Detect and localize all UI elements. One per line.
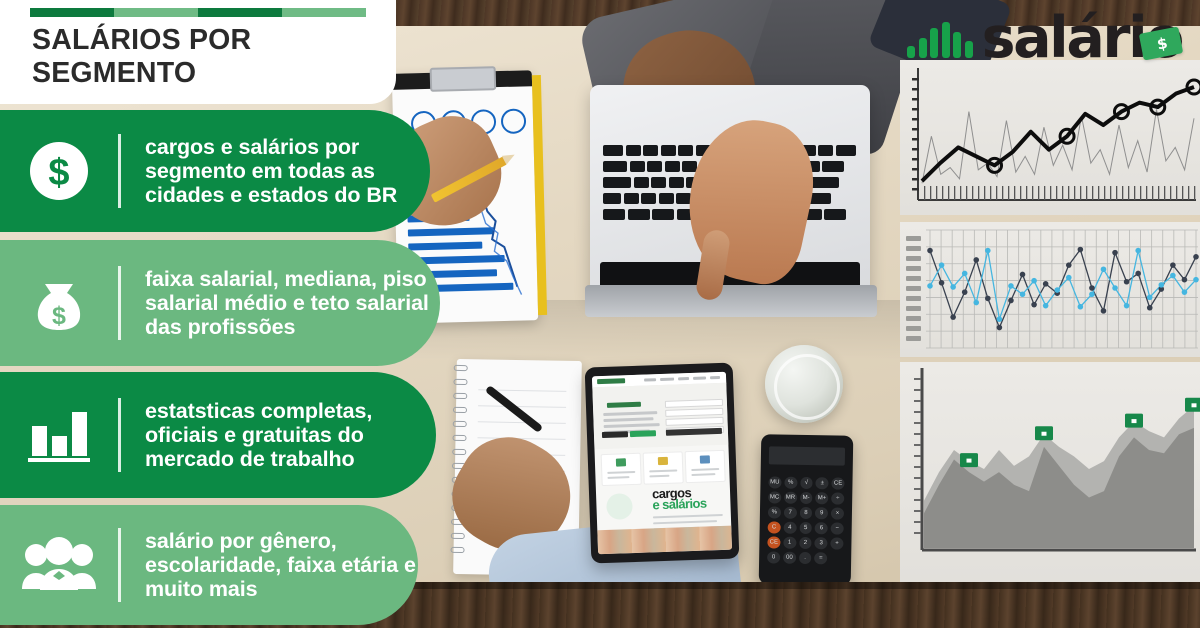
feature-text: cargos e salários por segmento em todas …: [121, 135, 430, 207]
feature-row-2[interactable]: $faixa salarial, mediana, piso salarial …: [0, 240, 440, 366]
axis-tick: [1134, 186, 1135, 200]
axis-tick: [996, 186, 997, 200]
calculator-key: 1: [783, 537, 796, 549]
data-point-marker: [997, 325, 1003, 331]
data-point-marker: [1112, 285, 1118, 291]
calculator-key: .: [799, 552, 812, 564]
axis-tick: [1128, 186, 1129, 200]
axis-tick: [914, 433, 921, 435]
axis-tick: [924, 186, 925, 200]
axis-tick: [1020, 186, 1021, 200]
data-point-marker: [1031, 302, 1037, 308]
axis-tick: [914, 477, 921, 479]
axis-tick: [1194, 186, 1195, 200]
data-point-marker: [927, 248, 933, 254]
site-headline: cargose salários: [652, 486, 707, 510]
infographic-banner: cargose salários MU%√±CEMCMRM-M+÷%789×C4…: [0, 0, 1200, 628]
axis-tick: [1074, 186, 1075, 200]
calculator-keypad: MU%√±CEMCMRM-M+÷%789×C456−CE123+000.=: [767, 476, 845, 564]
axis-tick: [972, 186, 973, 200]
axis-tick: [914, 466, 921, 468]
equalizer-bar-3: [930, 28, 938, 58]
axis-tick: [1122, 186, 1123, 200]
site-hero: [592, 383, 728, 450]
calculator-key: 00: [783, 552, 796, 564]
brand-name: salário $: [982, 14, 1182, 62]
feature-row-1[interactable]: $cargos e salários por segmento em todas…: [0, 110, 430, 232]
data-point-marker: [1054, 287, 1060, 293]
axis-tick: [1146, 186, 1147, 200]
axis-tick: [914, 389, 921, 391]
data-point-marker: [1043, 303, 1049, 309]
tablet-device: cargose salários: [585, 362, 740, 563]
feature-text: estatsticas completas, oficiais e gratui…: [121, 399, 436, 471]
data-point-marker: [1089, 285, 1095, 291]
axis-label: [906, 246, 921, 251]
data-point-marker: [950, 314, 956, 320]
data-point-marker: [1078, 304, 1084, 310]
data-point-marker: [1159, 282, 1165, 288]
axis-tick: [1002, 186, 1003, 200]
data-point-marker: [973, 257, 979, 263]
data-point-marker: [950, 284, 956, 290]
svg-text:$: $: [48, 152, 69, 194]
calculator-key: 4: [783, 522, 796, 534]
equalizer-bar-1: [907, 46, 915, 58]
axis-tick: [914, 488, 921, 490]
calculator-key: ×: [831, 507, 844, 519]
axis-label: [906, 286, 921, 291]
money-bag-icon: $: [0, 270, 118, 336]
calculator-key: %: [768, 506, 781, 518]
axis-tick: [1098, 186, 1099, 200]
data-point-marker: [997, 316, 1003, 322]
bar-chart-icon: [0, 404, 118, 466]
axis-tick: [960, 186, 961, 200]
axis-tick: [914, 521, 921, 523]
data-point-marker: [1112, 250, 1118, 256]
data-point-marker: [962, 271, 968, 277]
area-marker: [1185, 398, 1200, 412]
axis-tick: [1014, 186, 1015, 200]
calculator-key: 7: [784, 507, 797, 519]
axis-tick: [1044, 186, 1045, 200]
axis-tick: [984, 186, 985, 200]
data-point-marker: [1170, 273, 1176, 279]
calculator-key: MU: [768, 476, 781, 488]
axis-tick: [1170, 186, 1171, 200]
site-button-secondary: [602, 431, 628, 438]
axis-label: [906, 276, 921, 281]
calculator-key: 8: [799, 507, 812, 519]
data-point-marker: [1124, 279, 1130, 285]
axis-tick: [1056, 186, 1057, 200]
stripe-segment-3: [198, 8, 282, 17]
calculator-display: [769, 446, 845, 465]
axis-tick: [1104, 186, 1105, 200]
data-point-marker: [1147, 295, 1153, 301]
data-point-marker: [1020, 272, 1026, 278]
axis-tick: [1188, 186, 1189, 200]
data-point-marker: [1182, 277, 1188, 283]
calculator-key: M-: [800, 492, 813, 504]
calculator-key: MR: [784, 492, 797, 504]
equalizer-bar-6: [965, 41, 973, 58]
data-point-marker: [1135, 271, 1141, 277]
axis-label: [906, 306, 921, 311]
data-point-marker: [1193, 277, 1199, 283]
axis-label: [906, 326, 921, 331]
axis-tick: [912, 168, 919, 171]
data-point-marker: [1170, 262, 1176, 268]
data-point-marker: [927, 283, 933, 289]
calculator-key: +: [831, 537, 844, 549]
axis-tick: [1086, 186, 1087, 200]
axis-tick: [1164, 186, 1165, 200]
calculator-key: 9: [815, 507, 828, 519]
feature-row-3[interactable]: estatsticas completas, oficiais e gratui…: [0, 372, 436, 498]
data-point-marker: [1008, 298, 1014, 304]
page-title: SALÁRIOS POR SEGMENTO: [32, 24, 396, 90]
dual-series-line-chart: [900, 222, 1200, 357]
calculator-key: ±: [816, 477, 829, 489]
site-button-primary: [630, 430, 656, 437]
calculator-key: M+: [815, 492, 828, 504]
people-group-icon: [0, 537, 118, 593]
axis-tick: [1068, 186, 1069, 200]
site-feature-card: [643, 451, 684, 484]
axis-tick: [912, 98, 919, 101]
data-point-marker: [1101, 308, 1107, 314]
axis-tick: [930, 186, 931, 200]
data-point-marker: [1066, 275, 1072, 281]
site-logo: [597, 378, 625, 384]
data-point-marker: [1101, 266, 1107, 272]
calculator-key: MC: [768, 491, 781, 503]
site-headline-line2: e salários: [652, 495, 706, 512]
laptop-screen-back: [585, 285, 877, 317]
calculator-key: =: [814, 552, 827, 564]
calculator-key: 2: [799, 537, 812, 549]
axis-tick: [912, 128, 919, 131]
axis-tick: [990, 186, 991, 200]
axis-tick: [1026, 186, 1027, 200]
axis-tick: [914, 455, 921, 457]
axis-tick: [948, 186, 949, 200]
area-marker: [960, 453, 978, 467]
axis-tick: [1182, 186, 1183, 200]
calculator-key: CE: [767, 536, 780, 548]
axis-label: [906, 236, 921, 241]
calculator-key: CE: [832, 477, 845, 489]
axis-tick: [966, 186, 967, 200]
site-image-strip: [597, 526, 732, 555]
drinking-glass: [765, 345, 843, 423]
calculator-key: 6: [815, 522, 828, 534]
axis-tick: [912, 178, 919, 181]
axis-label: [906, 336, 921, 341]
axis-tick: [914, 499, 921, 501]
data-point-marker: [1008, 283, 1014, 289]
axis-tick: [942, 186, 943, 200]
data-point-marker: [1078, 247, 1084, 253]
axis-label: [906, 316, 921, 321]
area-marker: [1035, 426, 1053, 440]
feature-text: faixa salarial, mediana, piso salarial m…: [121, 267, 440, 339]
calculator-key: 3: [815, 537, 828, 549]
feature-row-4[interactable]: salário por gênero, escolaridade, faixa …: [0, 505, 418, 625]
tablet-screen: cargose salários: [592, 372, 732, 555]
chart-panel-middle: [900, 222, 1200, 357]
data-point-marker: [1031, 278, 1037, 284]
axis-label: [906, 266, 921, 271]
area-marker: [1125, 414, 1143, 428]
data-point-marker: [1193, 254, 1199, 260]
axis-tick: [1176, 186, 1177, 200]
axis-tick: [914, 444, 921, 446]
axis-tick: [912, 88, 919, 91]
axis-tick: [954, 186, 955, 200]
dollar-coin-icon: $: [0, 139, 118, 203]
axis-label: [906, 256, 921, 261]
calculator: MU%√±CEMCMRM-M+÷%789×C456−CE123+000.=: [759, 434, 854, 586]
axis-tick: [1092, 186, 1093, 200]
axis-tick: [914, 532, 921, 534]
axis-tick: [1080, 186, 1081, 200]
axis-tick: [914, 411, 921, 413]
data-point-marker: [1043, 281, 1049, 287]
stripe-segment-2: [114, 8, 198, 17]
axis-tick: [914, 400, 921, 402]
data-point-marker: [962, 289, 968, 295]
axis-tick: [912, 78, 919, 81]
site-feature-card: [685, 450, 726, 483]
svg-text:$: $: [52, 302, 66, 330]
data-point-marker: [985, 296, 991, 302]
data-point-marker: [1135, 248, 1141, 254]
data-point-marker: [985, 248, 991, 254]
axis-tick: [912, 148, 919, 151]
axis-tick: [912, 118, 919, 121]
data-point-marker: [939, 262, 945, 268]
axis-tick: [936, 186, 937, 200]
stripe-segment-4: [282, 8, 366, 17]
axis-tick: [914, 510, 921, 512]
axis-tick: [1050, 186, 1051, 200]
equalizer-icon: [907, 18, 973, 58]
axis-tick: [1062, 186, 1063, 200]
axis-tick: [1116, 186, 1117, 200]
site-hero-title: [607, 402, 641, 408]
axis-tick: [912, 188, 919, 191]
site-feature-card: [601, 453, 642, 486]
title-card: SALÁRIOS POR SEGMENTO: [0, 0, 396, 104]
axis-tick: [914, 422, 921, 424]
equalizer-bar-2: [919, 38, 927, 58]
axis-tick: [1038, 186, 1039, 200]
axis-tick: [1152, 186, 1153, 200]
brand-logo[interactable]: salário $: [907, 14, 1182, 62]
axis-tick: [912, 138, 919, 141]
axis-tick: [978, 186, 979, 200]
feature-text: salário por gênero, escolaridade, faixa …: [121, 529, 418, 601]
axis-tick: [1158, 186, 1159, 200]
stacked-area-chart: [900, 362, 1200, 582]
calculator-key: ÷: [831, 492, 844, 504]
axis-tick: [1008, 186, 1009, 200]
data-point-marker: [939, 280, 945, 286]
accent-stripe: [30, 8, 366, 17]
calculator-key: 0: [767, 551, 780, 563]
axis-tick: [1140, 186, 1141, 200]
calculator-key: 5: [799, 522, 812, 534]
data-point-marker: [1089, 291, 1095, 297]
stripe-segment-1: [30, 8, 114, 17]
data-point-marker: [1020, 291, 1026, 297]
calculator-key: C: [768, 521, 781, 533]
axis-tick: [1032, 186, 1033, 200]
trend-line-chart: [900, 60, 1200, 215]
calculator-key: √: [800, 477, 813, 489]
data-point-marker: [1182, 289, 1188, 295]
axis-tick: [914, 378, 921, 380]
equalizer-bar-5: [953, 32, 961, 58]
data-point-marker: [973, 300, 979, 306]
data-point-marker: [1124, 303, 1130, 309]
chart-panel-bottom: [900, 362, 1200, 582]
axis-tick: [1110, 186, 1111, 200]
site-illustration: [606, 493, 633, 520]
axis-label: [906, 296, 921, 301]
calculator-key: −: [831, 522, 844, 534]
data-point-marker: [1066, 262, 1072, 268]
axis-tick: [912, 158, 919, 161]
calculator-key: %: [784, 477, 797, 489]
equalizer-bar-4: [942, 22, 950, 58]
axis-tick: [912, 108, 919, 111]
data-point-marker: [1147, 305, 1153, 311]
chart-panel-top: [900, 60, 1200, 215]
